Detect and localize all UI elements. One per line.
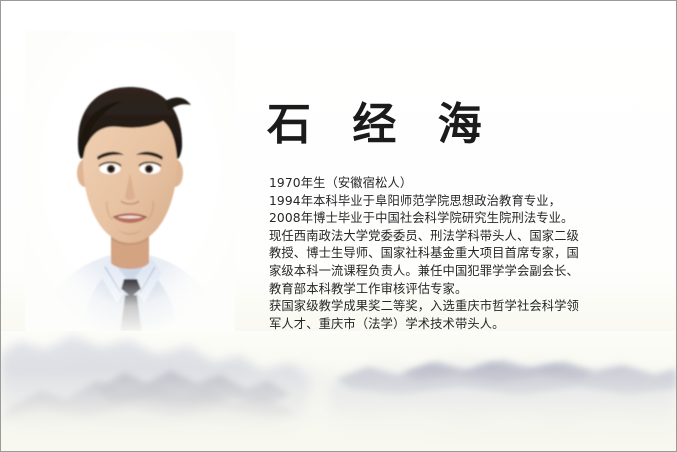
biography-text: 1970年生（安徽宿松人） 1994年本科毕业于阜阳师范学院思想政治教育专业， … xyxy=(269,175,587,333)
bio-line-bachelor: 1994年本科毕业于阜阳师范学院思想政治教育专业， xyxy=(269,193,587,211)
profile-card: 石 经 海 1970年生（安徽宿松人） 1994年本科毕业于阜阳师范学院思想政治… xyxy=(0,0,677,452)
ink-wash-mountain-decoration xyxy=(1,319,676,451)
person-name: 石 经 海 xyxy=(267,99,495,152)
bio-line-awards: 获国家级教学成果奖二等奖，入选重庆市哲学社会科学领军人才、重庆市（法学）学术技术… xyxy=(269,298,587,333)
bio-line-doctorate: 2008年博士毕业于中国社会科学院研究生院刑法专业。 xyxy=(269,210,587,228)
portrait-photo xyxy=(25,31,235,331)
bio-line-positions: 现任西南政法大学党委委员、刑法学科带头人、国家二级教授、博士生导师、国家社科基金… xyxy=(269,228,587,298)
bio-line-birth: 1970年生（安徽宿松人） xyxy=(269,175,587,193)
